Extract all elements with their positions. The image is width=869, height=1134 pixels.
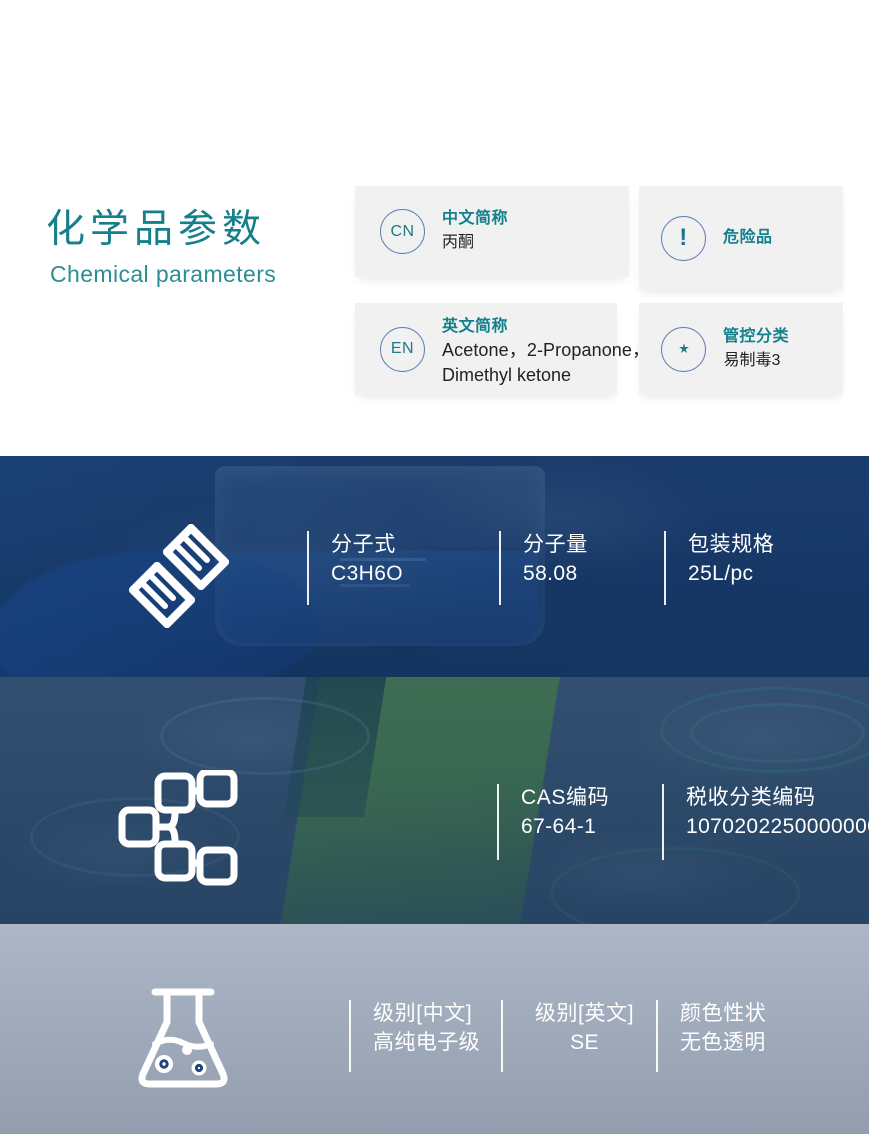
field-molecular-formula: 分子式 C3H6O bbox=[307, 531, 499, 605]
field-label: 级别[中文] bbox=[373, 1000, 501, 1028]
info-card-hazardous[interactable]: ! 危险品 bbox=[639, 186, 843, 290]
band1-fields: 分子式 C3H6O 分子量 58.08 包装规格 25L/pc bbox=[307, 531, 774, 605]
star-icon bbox=[661, 327, 706, 372]
band2-fields: CAS编码 67-64-1 税收分类编码 1070202250000000000 bbox=[497, 784, 869, 860]
band-grade-info: 级别[中文] 高纯电子级 级别[英文] SE 颜色性状 无色透明 bbox=[0, 924, 869, 1134]
erlenmeyer-flask-icon bbox=[133, 986, 233, 1091]
field-tax-code: 税收分类编码 1070202250000000000 bbox=[662, 784, 869, 860]
field-color-property: 颜色性状 无色透明 bbox=[656, 1000, 766, 1072]
card-title: 管控分类 bbox=[723, 327, 789, 347]
info-card-english-name[interactable]: EN 英文简称 Acetone，2-Propanone， Dimethyl ke… bbox=[355, 303, 617, 395]
card-value: 易制毒3 bbox=[723, 350, 789, 372]
field-label: CAS编码 bbox=[521, 784, 662, 812]
card-value: 丙酮 bbox=[442, 232, 508, 254]
field-label: 分子量 bbox=[523, 531, 664, 559]
field-cas-number: CAS编码 67-64-1 bbox=[497, 784, 662, 860]
page-title: 化学品参数 bbox=[46, 208, 336, 253]
field-value: 1070202250000000000 bbox=[686, 812, 869, 842]
header-section: 化学品参数 Chemical parameters CN 中文简称 丙酮 ! 危… bbox=[0, 0, 869, 456]
card-title: 中文简称 bbox=[442, 209, 508, 229]
cn-text-badge: CN bbox=[380, 209, 425, 254]
band-code-info: CAS编码 67-64-1 税收分类编码 1070202250000000000 bbox=[0, 677, 869, 924]
card-title: 英文简称 bbox=[442, 317, 650, 337]
field-value: SE bbox=[513, 1028, 656, 1058]
info-card-chinese-name[interactable]: CN 中文简称 丙酮 bbox=[355, 186, 629, 277]
field-value: 无色透明 bbox=[680, 1028, 766, 1058]
field-grade-chinese: 级别[中文] 高纯电子级 bbox=[349, 1000, 501, 1072]
field-label: 级别[英文] bbox=[513, 1000, 656, 1028]
page-title-block: 化学品参数 Chemical parameters bbox=[46, 208, 336, 288]
card-value-line2: Dimethyl ketone bbox=[442, 363, 650, 387]
hierarchy-tree-icon bbox=[118, 770, 238, 886]
band3-fields: 级别[中文] 高纯电子级 级别[英文] SE 颜色性状 无色透明 bbox=[349, 1000, 766, 1072]
field-value: 25L/pc bbox=[688, 559, 774, 589]
field-label: 包装规格 bbox=[688, 531, 774, 559]
field-label: 分子式 bbox=[331, 531, 499, 559]
card-title: 危险品 bbox=[723, 228, 773, 248]
en-text-badge: EN bbox=[380, 327, 425, 372]
field-package-spec: 包装规格 25L/pc bbox=[664, 531, 774, 605]
info-card-control-class[interactable]: 管控分类 易制毒3 bbox=[639, 303, 843, 395]
field-value: 58.08 bbox=[523, 559, 664, 589]
page-subtitle: Chemical parameters bbox=[46, 261, 336, 288]
field-label: 颜色性状 bbox=[680, 1000, 766, 1028]
field-molecular-weight: 分子量 58.08 bbox=[499, 531, 664, 605]
field-grade-english: 级别[英文] SE bbox=[501, 1000, 656, 1072]
field-label: 税收分类编码 bbox=[686, 784, 869, 812]
card-value-line1: Acetone，2-Propanone， bbox=[442, 339, 650, 362]
field-value: 67-64-1 bbox=[521, 812, 662, 842]
field-value: C3H6O bbox=[331, 559, 499, 589]
field-value: 高纯电子级 bbox=[373, 1028, 501, 1058]
band-molecular-info: 分子式 C3H6O 分子量 58.08 包装规格 25L/pc bbox=[0, 456, 869, 677]
dna-helix-icon bbox=[115, 512, 243, 640]
exclamation-icon: ! bbox=[661, 216, 706, 261]
